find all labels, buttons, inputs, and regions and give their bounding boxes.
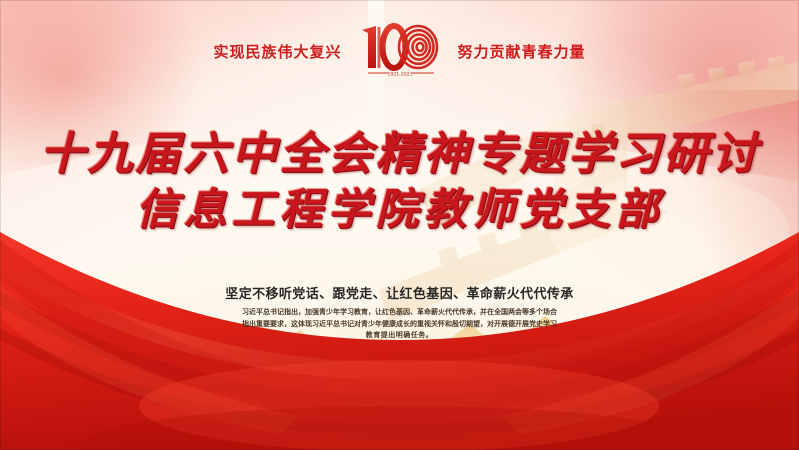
fineprint-line-1: 习近平总书记指出，加强青少年学习教育，让红色基因、革命薪火代代传承，并在全国两会… [0, 307, 799, 319]
centenary-100-logo: 1921-2021 [356, 22, 444, 80]
fineprint-line-2: 指出重要要求，这体现习近平总书记对青少年健康成长的重视关怀和殷切期望，对开展德开… [0, 319, 799, 331]
slogan-left: 实现民族伟大复兴 [213, 41, 341, 62]
title-line-1: 十九届六中全会精神专题学习研讨 [0, 126, 799, 182]
poster-canvas: 实现民族伟大复兴 [0, 0, 799, 450]
fineprint-line-3: 教育提出明确任务。 [0, 330, 799, 342]
title-line-2: 信息工程学院教师党支部 [0, 182, 799, 238]
logo-caption-text: 1921-2021 [387, 72, 412, 78]
poster-title: 十九届六中全会精神专题学习研讨 信息工程学院教师党支部 [0, 126, 799, 238]
poster-fineprint: 习近平总书记指出，加强青少年学习教育，让红色基因、革命薪火代代传承，并在全国两会… [0, 307, 799, 342]
header-row: 实现民族伟大复兴 [0, 22, 799, 80]
slogan-right: 努力贡献青春力量 [458, 41, 586, 62]
poster-subtitle: 坚定不移听党话、跟党走、让红色基因、革命薪火代代传承 [0, 283, 799, 302]
